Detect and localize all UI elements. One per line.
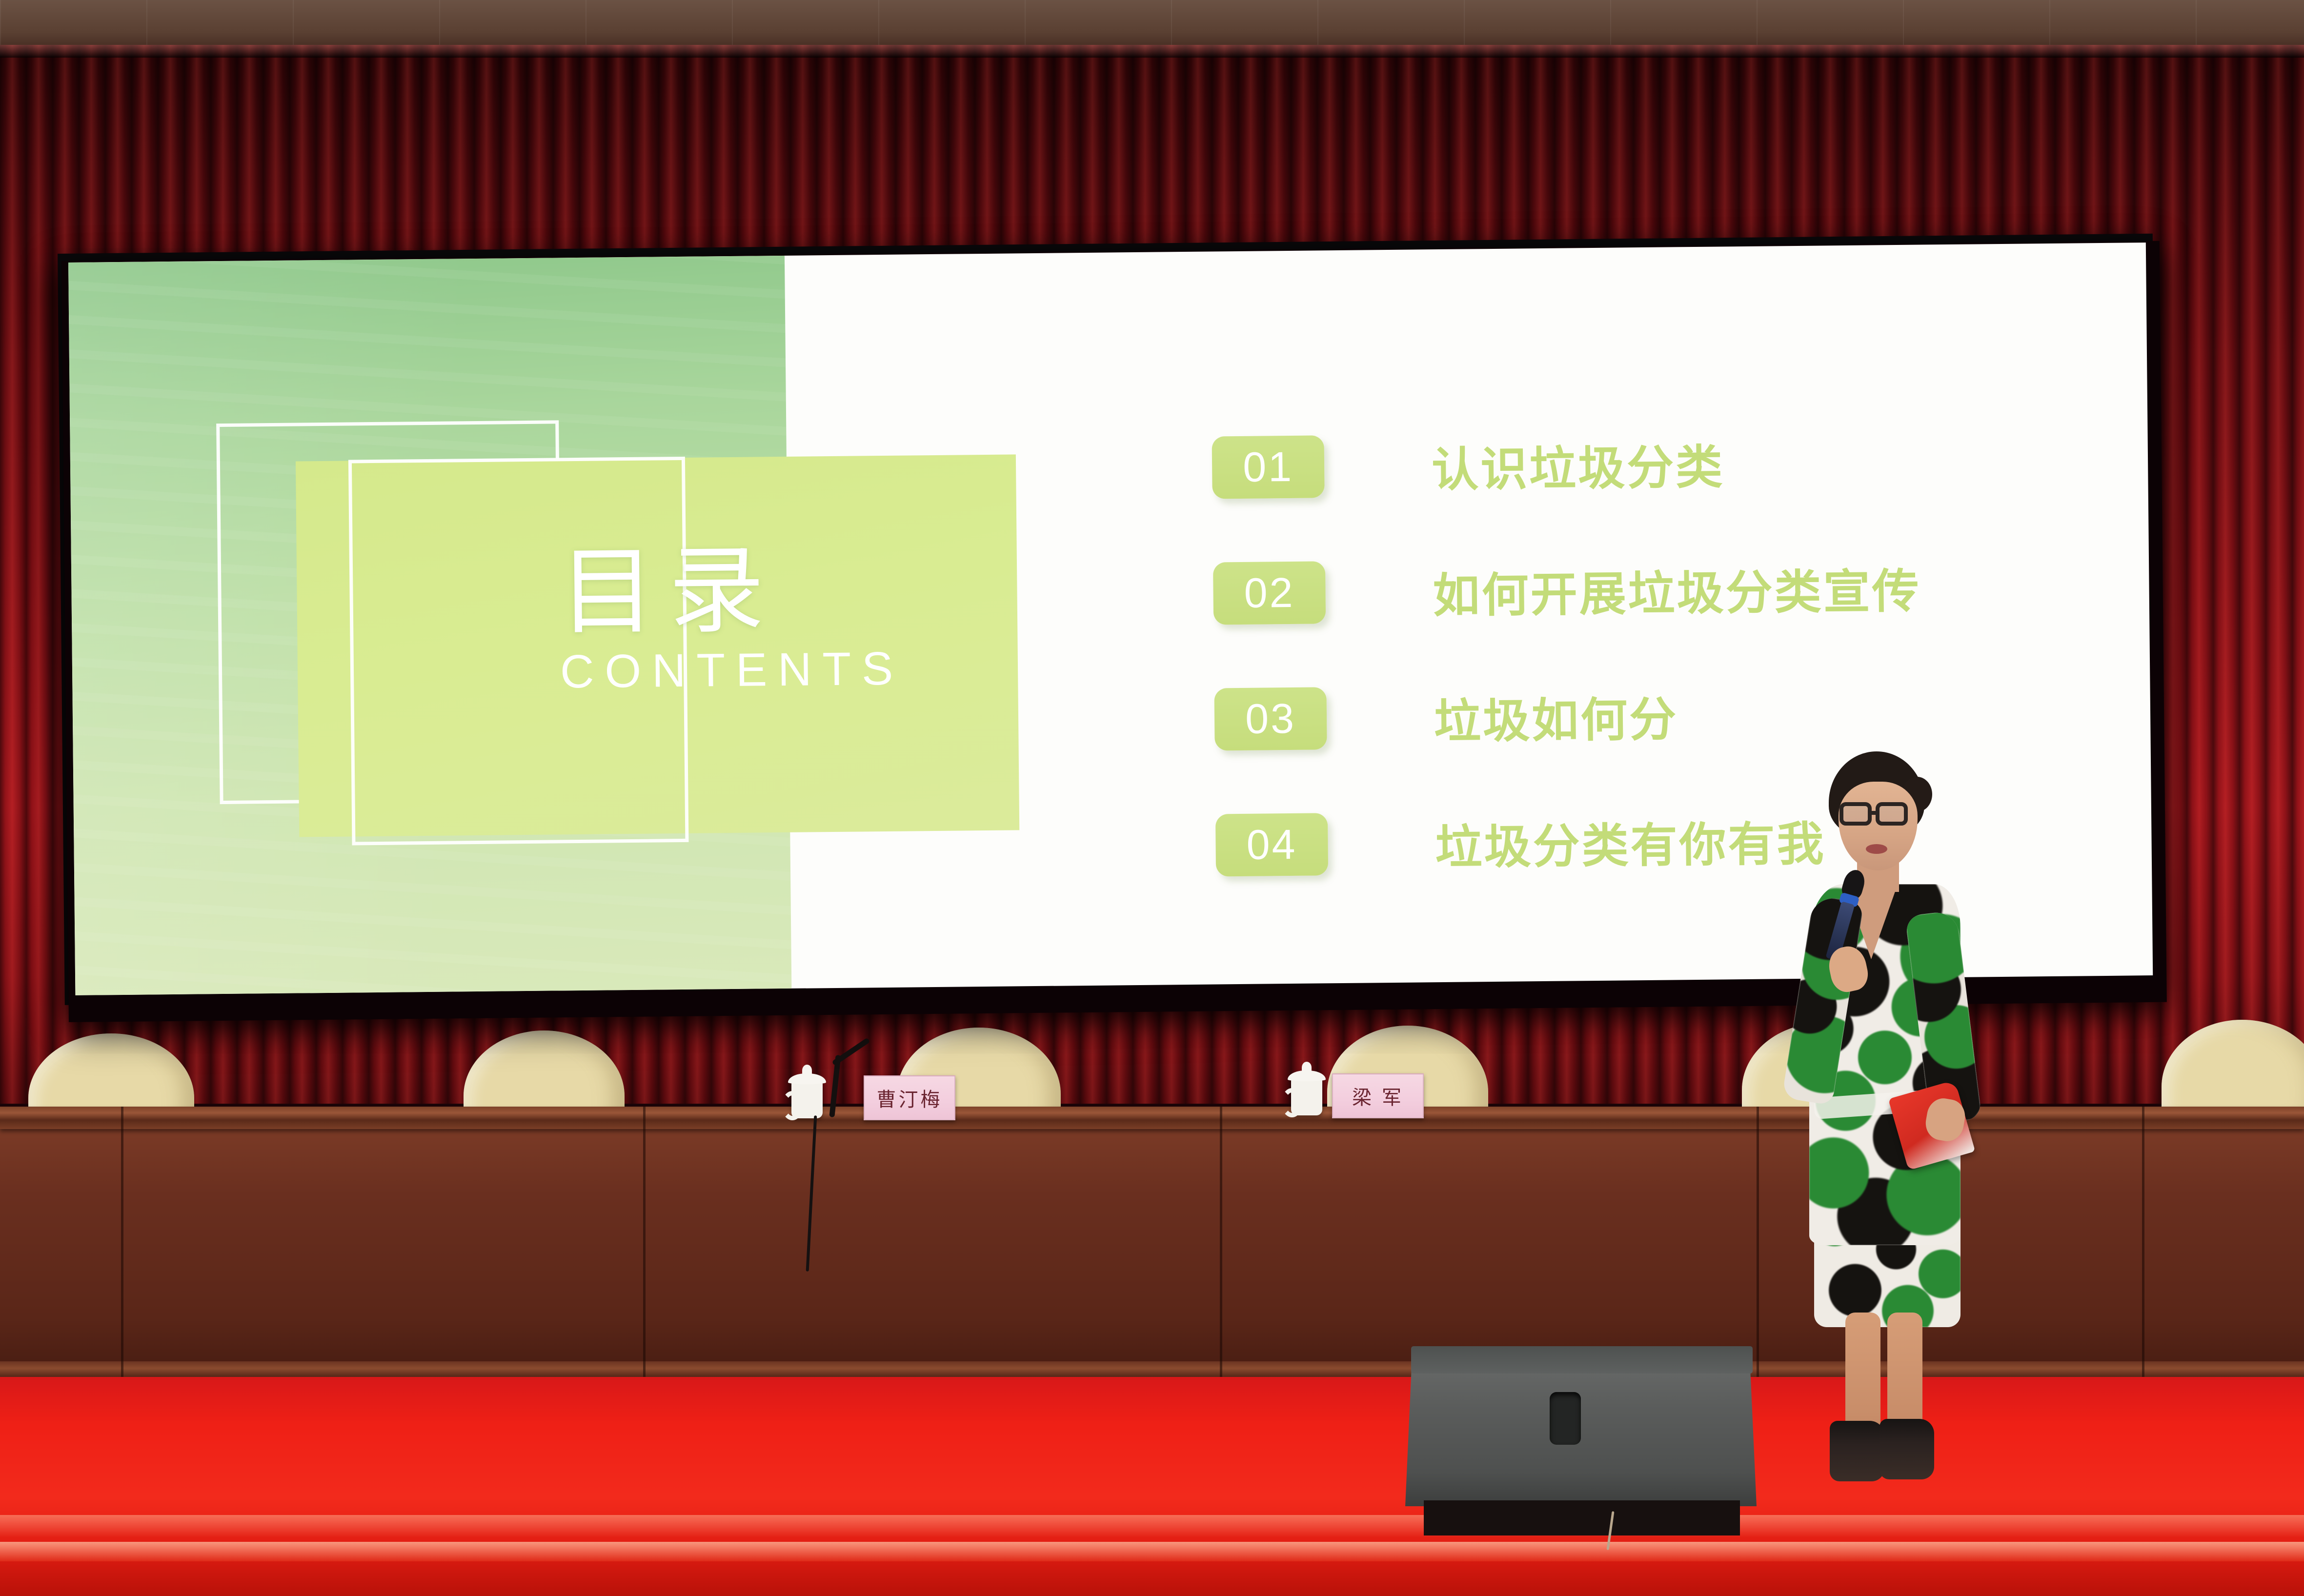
- table-seam: [643, 1107, 646, 1380]
- monitor-base: [1424, 1500, 1740, 1535]
- nameplate: 曹汀梅: [864, 1075, 955, 1120]
- eyeglasses-lens-right: [1876, 802, 1908, 826]
- stage-monitor-speaker: [1405, 1339, 1757, 1535]
- eyeglasses-bridge: [1872, 811, 1878, 815]
- list-item: 02 如何开展垃圾分类宣传: [1213, 545, 2092, 634]
- item-number: 04: [1246, 820, 1297, 869]
- table-seam: [2142, 1107, 2144, 1380]
- nameplate: 梁 军: [1332, 1073, 1424, 1118]
- tea-mug: [1291, 1077, 1322, 1115]
- item-label: 垃圾如何分: [1434, 681, 1678, 751]
- item-label: 认识垃圾分类: [1431, 429, 1724, 500]
- presenter-boot-left: [1830, 1421, 1884, 1481]
- table-seam: [1757, 1107, 1759, 1380]
- item-number-badge: 01: [1212, 435, 1325, 499]
- item-number-badge: 03: [1214, 687, 1327, 750]
- curtain-top-lip: [0, 45, 2304, 58]
- item-label: 垃圾分类有你有我: [1435, 806, 1826, 877]
- item-label: 如何开展垃圾分类宣传: [1433, 553, 1921, 626]
- item-number-badge: 02: [1213, 561, 1326, 625]
- list-item: 01 认识垃圾分类: [1212, 419, 2091, 508]
- table-seam: [1220, 1107, 1222, 1380]
- slide-title-group: 目录 CONTENTS: [559, 541, 902, 699]
- monitor-face: [1405, 1351, 1757, 1506]
- list-item: 03 垃圾如何分: [1214, 670, 2093, 760]
- eyeglasses-lens-left: [1839, 802, 1872, 826]
- slide-title-cn: 目录: [559, 541, 902, 642]
- slide-title-en: CONTENTS: [560, 642, 902, 699]
- presenter-boot-right: [1880, 1419, 1934, 1479]
- tea-mug: [791, 1080, 823, 1118]
- presenter-face: [1839, 782, 1918, 870]
- presenter-mouth: [1866, 844, 1887, 854]
- tea-mug-knob: [1302, 1062, 1312, 1073]
- tea-mug-knob: [802, 1065, 812, 1076]
- monitor-handle: [1550, 1392, 1581, 1445]
- auditorium-stage-scene: 目录 CONTENTS 01 认识垃圾分类 02 如何开展垃圾分类宣传 03 垃: [0, 0, 2304, 1596]
- item-number-badge: 04: [1215, 813, 1328, 876]
- presenter-figure: [1771, 751, 1976, 1469]
- item-number: 03: [1245, 694, 1296, 743]
- nameplate-text: 梁 军: [1352, 1082, 1404, 1110]
- item-number: 02: [1244, 568, 1295, 617]
- item-number: 01: [1243, 443, 1294, 491]
- monitor-top-grille: [1411, 1346, 1753, 1374]
- table-seam: [121, 1107, 123, 1380]
- stage-edge-highlight: [0, 1542, 2304, 1561]
- nameplate-text: 曹汀梅: [877, 1084, 943, 1112]
